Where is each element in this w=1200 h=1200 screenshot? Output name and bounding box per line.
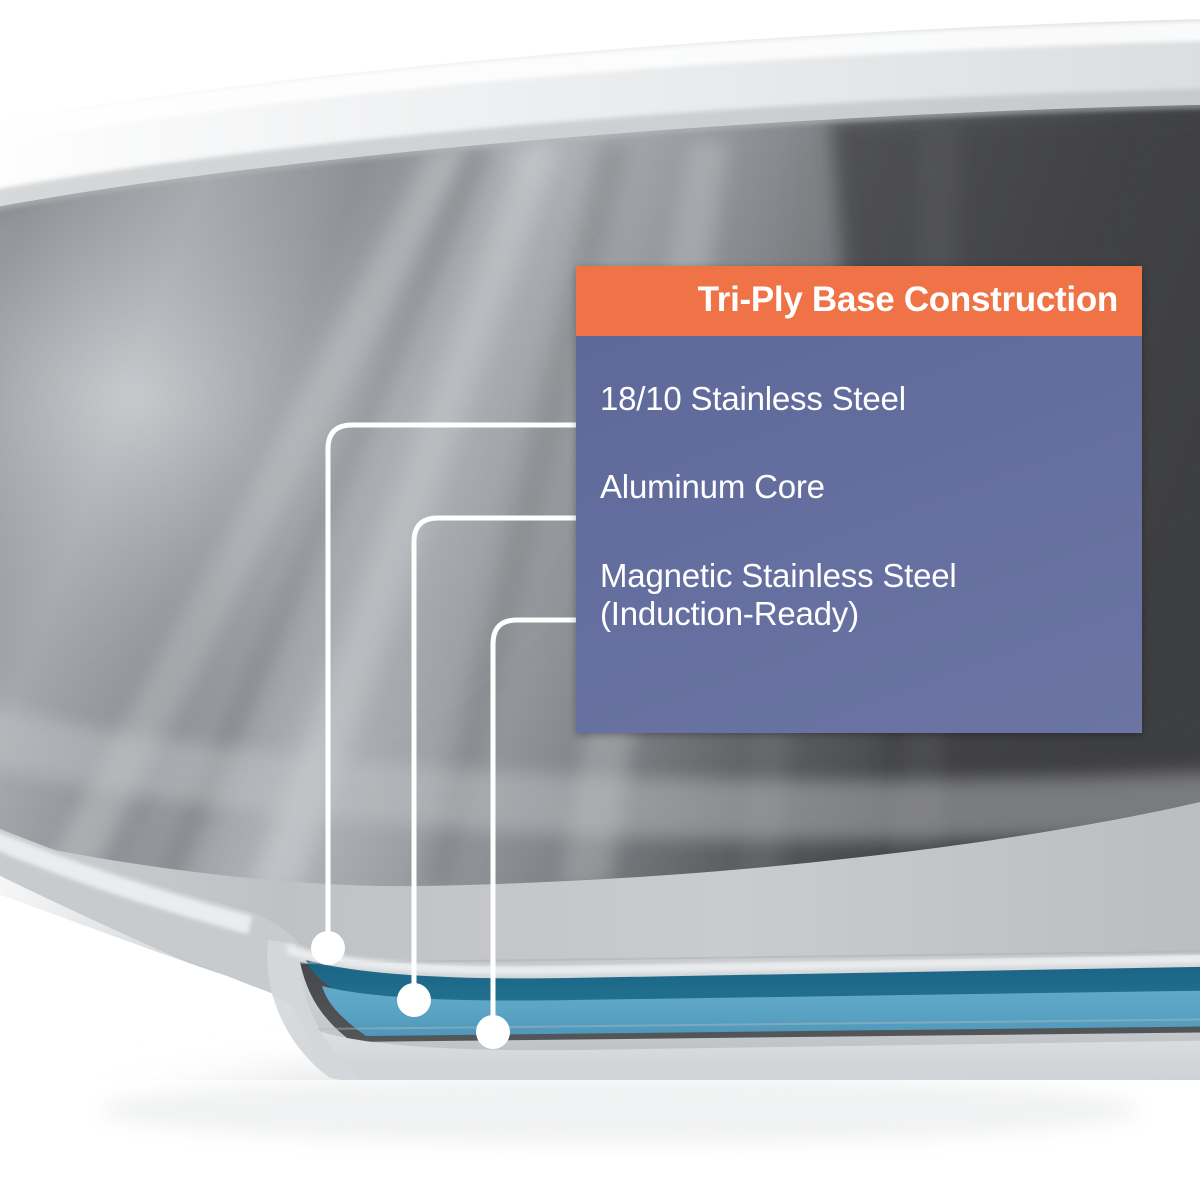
infographic-canvas: Tri-Ply Base Construction 18/10 Stainles…	[0, 0, 1200, 1200]
layer-label-3-line2: (Induction-Ready)	[600, 595, 1118, 633]
panel-body: 18/10 Stainless Steel Aluminum Core Magn…	[576, 336, 1142, 733]
layer-label-2: Aluminum Core	[600, 468, 825, 505]
layer-item-2: Aluminum Core	[600, 468, 1118, 506]
layer-label-3: Magnetic Stainless Steel	[600, 557, 957, 594]
panel-header: Tri-Ply Base Construction	[576, 266, 1142, 336]
tri-ply-info-panel: Tri-Ply Base Construction 18/10 Stainles…	[576, 266, 1142, 733]
layer-item-1: 18/10 Stainless Steel	[600, 380, 1118, 418]
layer-label-1: 18/10 Stainless Steel	[600, 380, 906, 417]
panel-header-title: Tri-Ply Base Construction	[698, 282, 1118, 317]
layer-item-3: Magnetic Stainless Steel (Induction-Read…	[600, 557, 1118, 634]
